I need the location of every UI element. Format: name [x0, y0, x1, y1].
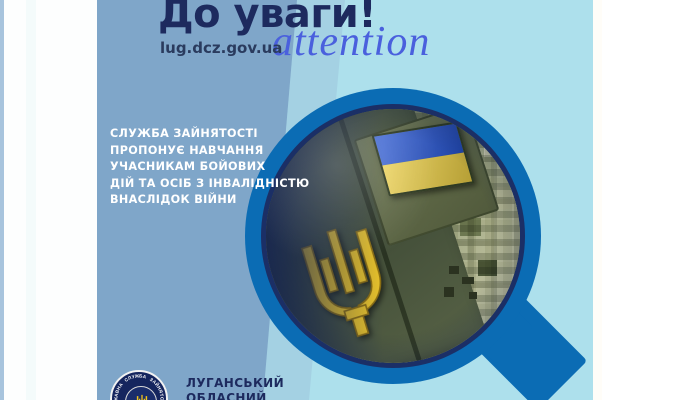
org-name-line: ОБЛАСНИЙ — [186, 391, 284, 400]
promo-line: ДІЙ ТА ОСІБ З ІНВАЛІДНІСТЮ — [110, 176, 330, 193]
promo-line: ВНАСЛІДОК ВІЙНИ — [110, 192, 330, 209]
state-employment-service-emblem: ДЕРЖАВНА СЛУЖБА ЗАЙНЯТОСТІ — [110, 370, 168, 400]
promo-line: УЧАСНИКАМ БОЙОВИХ — [110, 159, 330, 176]
promo-text-block: СЛУЖБА ЗАЙНЯТОСТІ ПРОПОНУЄ НАВЧАННЯ УЧАС… — [110, 126, 330, 209]
organization-name: ЛУГАНСЬКИЙ ОБЛАСНИЙ — [186, 376, 284, 400]
poster-canvas: До уваги! attention lug.dcz.gov.ua СЛУЖБ… — [0, 0, 680, 400]
subtitle-attention: attention — [272, 18, 430, 66]
right-white-tint — [593, 0, 602, 400]
ukrainian-flag-patch — [372, 121, 475, 196]
emblem-trident-icon — [135, 394, 149, 400]
website-url[interactable]: lug.dcz.gov.ua — [160, 39, 282, 57]
promo-line: СЛУЖБА ЗАЙНЯТОСТІ — [110, 126, 330, 143]
promo-line: ПРОПОНУЄ НАВЧАННЯ — [110, 143, 330, 160]
right-white-margin — [593, 0, 680, 400]
org-name-line: ЛУГАНСЬКИЙ — [186, 376, 284, 391]
flag-shading — [374, 123, 472, 193]
